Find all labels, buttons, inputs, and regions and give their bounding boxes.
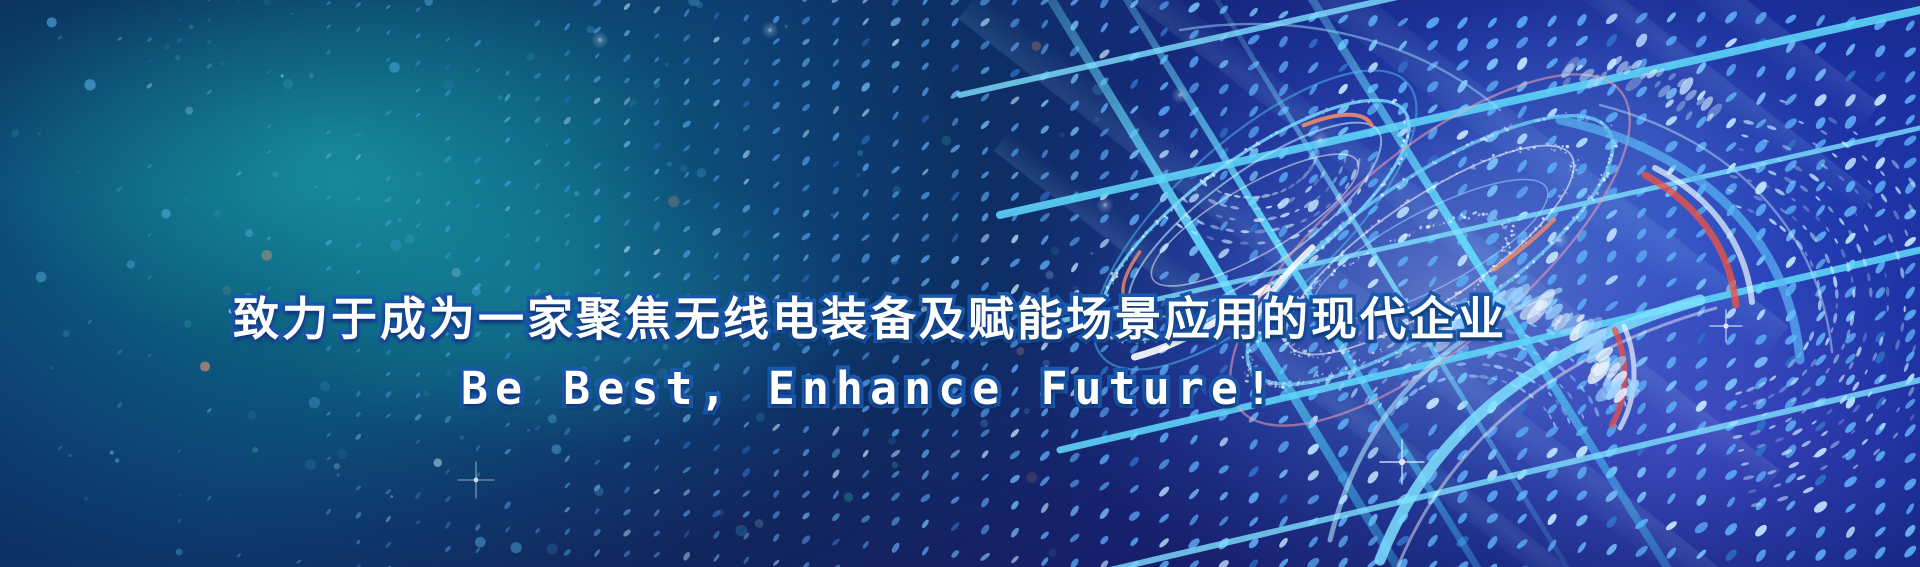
teal-glow-2 bbox=[260, 150, 860, 450]
hero-banner: 致力于成为一家聚焦无线电装备及赋能场景应用的现代企业 Be Best, Enha… bbox=[0, 0, 1920, 567]
background-artwork bbox=[0, 0, 1920, 567]
